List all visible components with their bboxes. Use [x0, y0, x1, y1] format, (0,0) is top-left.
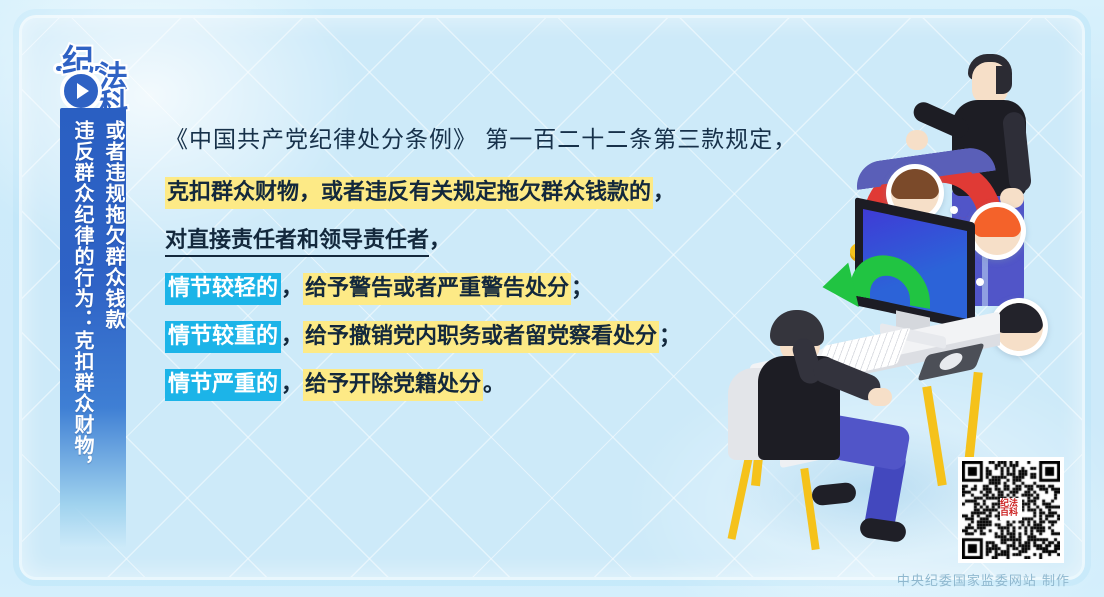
text-segment-highlight-yellow: 克扣群众财物，或者违反有关规定拖欠群众钱款的 — [165, 177, 653, 209]
seated-person-hand — [868, 388, 892, 406]
standing-person-left-hand — [906, 130, 928, 150]
green-return-arrow-icon — [828, 242, 938, 322]
text-segment-underline: 对直接责任者和领导责任者 — [165, 228, 429, 257]
text-segment-plain: ， — [281, 372, 303, 397]
play-triangle-icon — [60, 70, 102, 112]
text-segment-plain: ， — [429, 228, 451, 253]
text-segment-plain: ； — [571, 276, 593, 301]
sidebar-column-left: 违反群众纪律的行为：克扣群众财物， — [62, 120, 93, 536]
text-segment-highlight-yellow: 给予开除党籍处分 — [303, 369, 483, 401]
bubble-dot-1 — [950, 206, 958, 214]
avatar-orange-hair — [968, 202, 1026, 260]
text-segment-plain: ， — [653, 180, 675, 205]
text-segment-plain: ， — [281, 324, 303, 349]
text-segment-plain: ， — [281, 276, 303, 301]
text-segment-highlight-cyan: 情节较轻的 — [165, 273, 281, 305]
text-segment-plain: ； — [659, 324, 681, 349]
text-segment-highlight-cyan: 情节严重的 — [165, 369, 281, 401]
bubble-dot-3 — [976, 278, 984, 286]
text-segment-highlight-yellow: 给予撤销党内职务或者留党察看处分 — [303, 321, 659, 353]
text-segment-highlight-cyan: 情节较重的 — [165, 321, 281, 353]
sidebar-vertical-text: 或者违规拖欠群众钱款 违反群众纪律的行为：克扣群众财物， — [60, 116, 126, 536]
qr-center-logo: 纪法百科 — [1000, 498, 1022, 520]
footer-credit: 中央纪委国家监委网站 制作 — [897, 570, 1070, 589]
text-segment-plain: 。 — [483, 372, 505, 397]
text-segment-highlight-yellow: 给予警告或者严重警告处分 — [303, 273, 571, 305]
sidebar-column-right: 或者违规拖欠群众钱款 — [93, 120, 124, 536]
poster-canvas: 纪 法 科 或者违规拖欠群众钱款 违反群众纪律的行为：克扣群众财物， 《中国共产… — [0, 0, 1104, 597]
standing-person-hair-side — [996, 66, 1012, 94]
